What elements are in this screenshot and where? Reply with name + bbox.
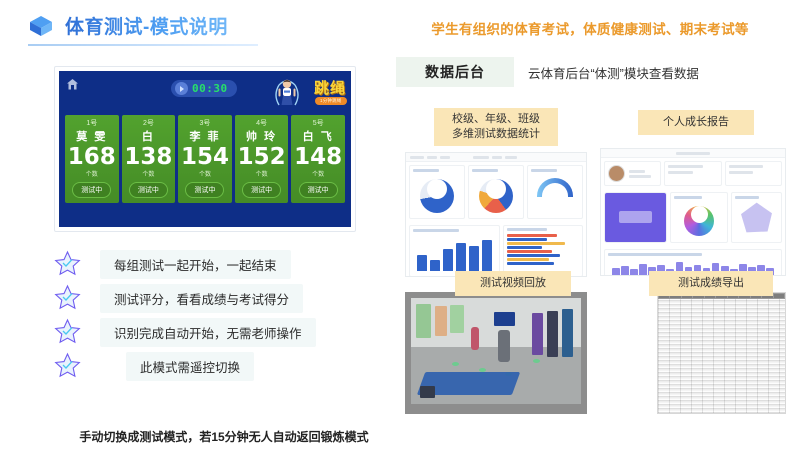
header-divider [28, 44, 258, 46]
toolbar-chip [492, 156, 502, 159]
student-score: 152 [235, 144, 289, 170]
feature-list: 每组测试一起开始，一起结束 测试评分，看看成绩与考试得分 识别完成自动开始，无需… [54, 247, 384, 383]
dashboard-kpi-row [406, 162, 586, 222]
toolbar-chip [427, 156, 437, 159]
profile-chip [629, 175, 651, 178]
tag-score-export: 测试成绩导出 [649, 271, 773, 296]
student-unit: 个数 [65, 169, 119, 178]
student-name: 白 飞 [291, 130, 345, 144]
student-name: 李 菲 [178, 130, 232, 144]
student-score: 168 [65, 144, 119, 170]
student-index: 1号 [65, 118, 119, 128]
jump-rope-athlete-icon [267, 73, 307, 113]
title-chip [676, 152, 710, 155]
radar-card [731, 192, 782, 243]
student-unit: 个数 [291, 169, 345, 178]
toolbar-chip [410, 156, 424, 159]
report-chart-row [601, 189, 785, 246]
bar-chart-card [409, 225, 500, 277]
student-card[interactable]: 5号 白 飞 148 个数 测试中 [291, 115, 345, 203]
card-title-bar [472, 169, 498, 172]
student-name: 白 [122, 130, 176, 144]
score-highlight-card [604, 192, 667, 243]
list-item: 每组测试一起开始，一起结束 [54, 247, 384, 281]
donut-chart-icon [420, 179, 454, 213]
score-export-spreadsheet[interactable] [657, 292, 786, 414]
card-title-bar [413, 229, 459, 232]
device-screen: 00:30 跳绳 [59, 71, 351, 227]
camera-tripod [420, 386, 435, 398]
toolbar-chip [473, 156, 489, 159]
list-item-label: 识别完成自动开始，无需老师操作 [100, 318, 316, 347]
bar-chart [413, 235, 496, 273]
horizontal-bar-card [503, 225, 583, 277]
screen-topbar: 00:30 跳绳 [59, 71, 351, 113]
list-item: 此模式需遥控切换 [54, 349, 384, 383]
page-title: 体育测试-模式说明 [65, 12, 228, 39]
donut-card [468, 165, 524, 219]
toolbar-chip [440, 156, 450, 159]
wall-poster [450, 305, 464, 333]
gauge-card [527, 165, 583, 219]
list-item-label: 每组测试一起开始，一起结束 [100, 250, 291, 279]
profile-card [604, 161, 661, 186]
student-index: 2号 [122, 118, 176, 128]
info-card [664, 161, 721, 186]
student-score: 148 [291, 144, 345, 170]
profile-chip [629, 170, 645, 173]
card-title-bar [674, 196, 702, 199]
student-unit: 个数 [235, 169, 289, 178]
report-profile-row [601, 158, 785, 189]
info-chip [668, 165, 703, 168]
gauge-chart-icon [537, 178, 573, 197]
score-chip [619, 211, 652, 223]
device-screen-frame: 00:30 跳绳 [54, 66, 356, 232]
student-card-list: 1号 莫 雯 168 个数 测试中 2号 白 138 个数 测试中 3号 李 菲… [65, 115, 345, 203]
wall-poster [435, 306, 447, 336]
status-badge: 测试中 [185, 182, 224, 198]
student-score: 138 [122, 144, 176, 170]
student-name: 帅 玲 [235, 130, 289, 144]
tag-growth-report: 个人成长报告 [638, 110, 754, 135]
sport-badge: 1分钟跳绳 [315, 97, 347, 105]
star-bullet-icon [54, 284, 81, 311]
student-score: 154 [178, 144, 232, 170]
gym-test-video-frame[interactable] [405, 292, 587, 414]
footnote: 手动切换成测试模式，若15分钟无人自动返回锻炼模式 [54, 428, 394, 445]
student-name: 莫 雯 [65, 130, 119, 144]
clock-play-icon [175, 82, 188, 95]
info-chip [729, 165, 764, 168]
student-index: 5号 [291, 118, 345, 128]
status-badge: 测试中 [242, 182, 281, 198]
wall-poster [416, 304, 431, 338]
list-item-label: 此模式需遥控切换 [126, 352, 254, 381]
dashboard-toolbar [406, 153, 586, 162]
donut-chart-icon [684, 206, 714, 236]
status-badge: 测试中 [129, 182, 168, 198]
toolbar-chip [505, 156, 517, 159]
star-bullet-icon [54, 318, 81, 345]
page-header: 体育测试-模式说明 [28, 12, 228, 39]
tag-stats-line2: 多维测试数据统计 [444, 127, 548, 142]
student-card[interactable]: 2号 白 138 个数 测试中 [122, 115, 176, 203]
rainbow-donut-card [670, 192, 728, 243]
radar-chart-icon [740, 202, 774, 234]
info-chip [668, 171, 693, 174]
table-body [658, 299, 785, 413]
wall-display [494, 312, 514, 326]
tag-video-replay: 测试视频回放 [455, 271, 571, 296]
card-title-bar [531, 169, 557, 172]
list-item-label: 测试评分，看看成绩与考试得分 [100, 284, 303, 313]
star-bullet-icon [54, 352, 81, 379]
kiosk-display [532, 313, 543, 355]
info-card [725, 161, 782, 186]
list-item: 测试评分，看看成绩与考试得分 [54, 281, 384, 315]
report-title-bar [601, 149, 785, 158]
card-title-bar [413, 169, 439, 172]
student-index: 3号 [178, 118, 232, 128]
header-note: 学生有组织的体育考试，体质健康测试、期末考试等 [404, 18, 776, 38]
tag-stats-line1: 校级、年级、班级 [444, 112, 548, 127]
sport-title: 跳绳 [314, 77, 346, 98]
countdown-timer: 00:30 [171, 80, 237, 97]
info-chip [729, 171, 754, 174]
student-unit: 个数 [178, 169, 232, 178]
cube-logo-icon [28, 13, 54, 39]
kiosk-display [547, 311, 558, 358]
status-badge: 测试中 [299, 182, 338, 198]
student-card[interactable]: 1号 莫 雯 168 个数 测试中 [65, 115, 119, 203]
personal-growth-report-dashboard[interactable] [600, 148, 786, 276]
student-index: 4号 [235, 118, 289, 128]
card-title-bar [608, 253, 702, 256]
star-bullet-icon [54, 250, 81, 277]
person-figure [471, 327, 480, 350]
avatar [608, 165, 625, 182]
person-figure [498, 330, 510, 362]
donut-chart-icon [479, 179, 513, 213]
card-title-bar [507, 228, 547, 231]
student-unit: 个数 [122, 169, 176, 178]
timer-value: 00:30 [192, 82, 228, 95]
kiosk-display [562, 309, 573, 358]
student-card[interactable]: 4号 帅 玲 152 个数 测试中 [235, 115, 289, 203]
backend-description: 云体育后台“体测”模块查看数据 [528, 57, 699, 87]
donut-card [409, 165, 465, 219]
multi-dimension-statistics-dashboard[interactable] [405, 152, 587, 277]
card-title-bar [735, 196, 758, 199]
status-badge: 测试中 [72, 182, 111, 198]
dashboard-chart-row [406, 222, 586, 277]
tag-stats: 校级、年级、班级 多维测试数据统计 [434, 108, 558, 146]
list-item: 识别完成自动开始，无需老师操作 [54, 315, 384, 349]
table-column-header [774, 294, 784, 298]
table-column-grid [658, 299, 785, 413]
home-icon[interactable] [66, 78, 79, 91]
backend-label: 数据后台 [396, 57, 514, 87]
video-frame-content [411, 298, 581, 404]
student-card[interactable]: 3号 李 菲 154 个数 测试中 [178, 115, 232, 203]
slide-root: 体育测试-模式说明 学生有组织的体育考试，体质健康测试、期末考试等 00:30 [0, 0, 790, 451]
